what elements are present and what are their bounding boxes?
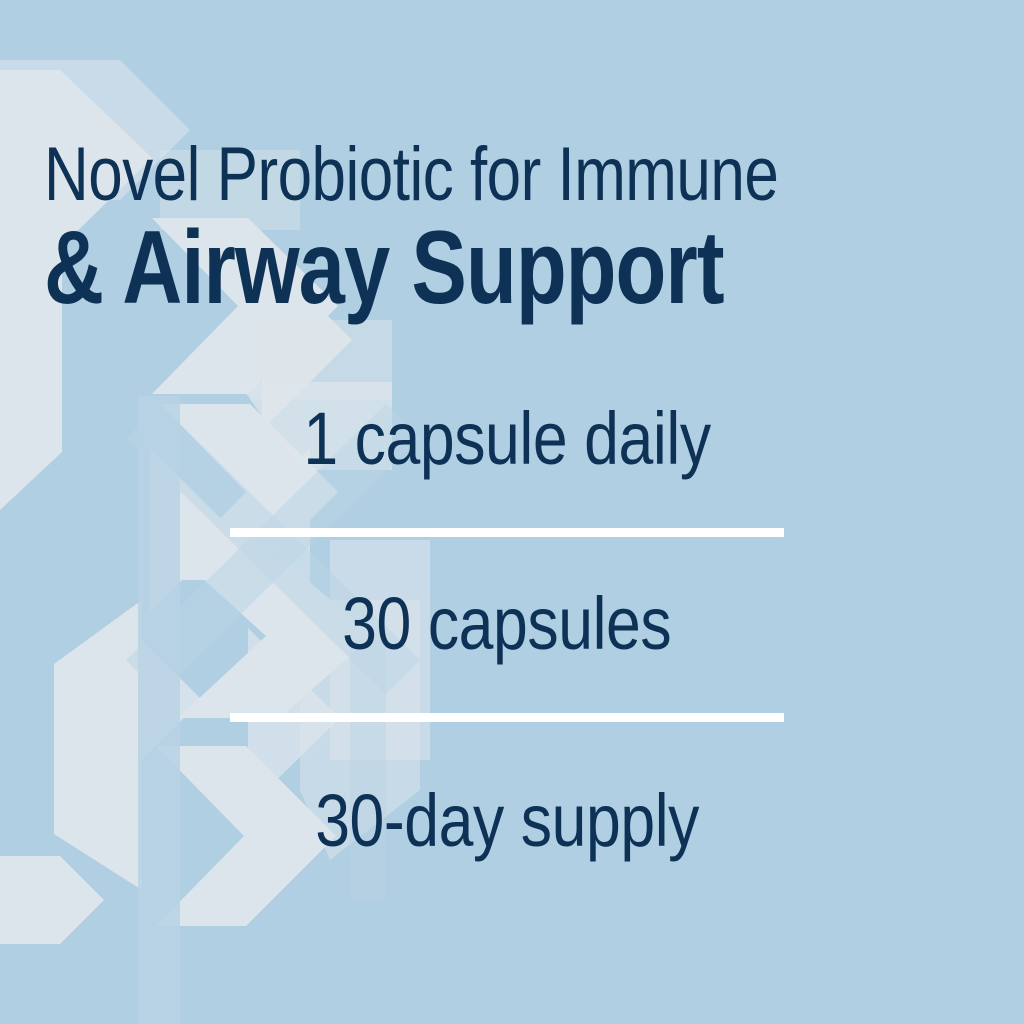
product-info-card: Novel Probiotic for Immune & Airway Supp… [0, 0, 1024, 1024]
spec-supply-label: 30-day supply [315, 784, 699, 858]
headline: Novel Probiotic for Immune & Airway Supp… [44, 138, 996, 320]
spec-divider-top [230, 528, 784, 537]
spec-divider-bottom [230, 713, 784, 722]
headline-line-2: & Airway Support [44, 216, 806, 320]
spec-row-dosage: 1 capsule daily [230, 396, 784, 482]
spec-row-supply: 30-day supply [230, 778, 784, 864]
headline-line-1: Novel Probiotic for Immune [44, 138, 820, 212]
spec-row-count: 30 capsules [230, 581, 784, 667]
spec-block: 1 capsule daily 30 capsules 30-day suppl… [230, 396, 784, 864]
spec-count-label: 30 capsules [342, 587, 671, 661]
spec-dosage-label: 1 capsule daily [303, 402, 710, 476]
